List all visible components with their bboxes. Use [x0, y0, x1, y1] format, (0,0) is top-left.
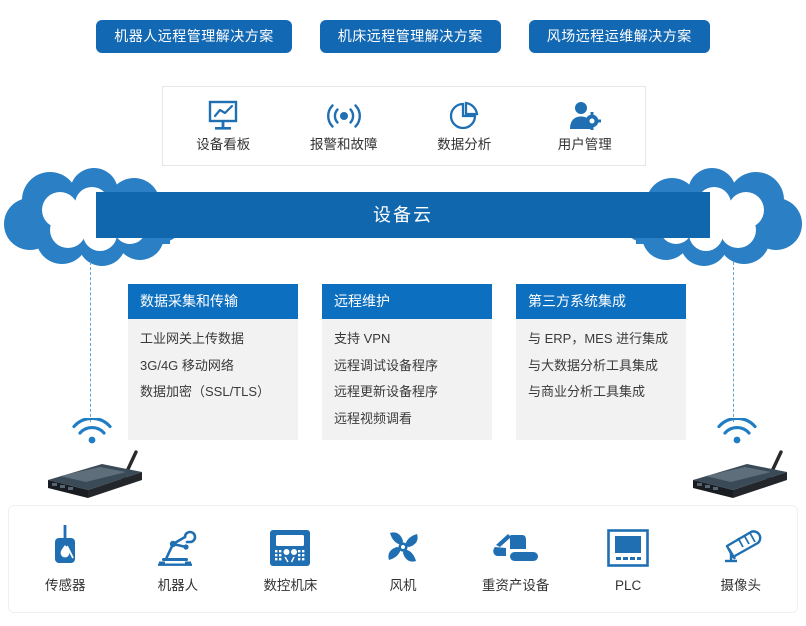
left-gateway	[40, 418, 150, 498]
panel-title: 远程维护	[322, 284, 492, 319]
panel-title: 第三方系统集成	[516, 284, 686, 319]
solution-pill-machine-tool[interactable]: 机床远程管理解决方案	[320, 20, 501, 53]
panel-item-list: 支持 VPN 远程调试设备程序 远程更新设备程序 远程视频调看	[322, 319, 492, 440]
panel-item: 远程更新设备程序	[334, 384, 480, 400]
solution-pill-row: 机器人远程管理解决方案 机床远程管理解决方案 风场远程运维解决方案	[0, 20, 806, 53]
app-item-label: 报警和故障	[310, 138, 378, 152]
app-item-label: 用户管理	[558, 138, 612, 152]
cloud-bar: 设备云	[96, 192, 710, 238]
sensor-icon	[48, 525, 82, 567]
robot-arm-icon	[156, 525, 200, 567]
panel-item: 工业网关上传数据	[140, 331, 286, 347]
device-item-label: 机器人	[158, 579, 199, 593]
device-type-strip: 传感器 机器人	[8, 505, 798, 613]
panel-item: 与商业分析工具集成	[528, 384, 674, 400]
panel-item: 支持 VPN	[334, 331, 480, 347]
panel-title: 数据采集和传输	[128, 284, 298, 319]
device-cloud-band: 设备云	[0, 168, 806, 268]
industrial-router-icon	[40, 448, 150, 498]
device-item-plc[interactable]: PLC	[572, 525, 685, 593]
industrial-router-icon	[685, 448, 795, 498]
panel-item: 数据加密（SSL/TLS）	[140, 384, 286, 400]
capability-panel-group: 数据采集和传输 工业网关上传数据 3G/4G 移动网络 数据加密（SSL/TLS…	[128, 284, 688, 440]
device-item-cnc[interactable]: 数控机床	[234, 525, 347, 593]
device-item-fan[interactable]: 风机	[347, 525, 460, 593]
pie-chart-icon	[448, 100, 480, 132]
application-card: 设备看板 报警和故障 数据分析	[162, 86, 646, 166]
device-item-sensor[interactable]: 传感器	[9, 525, 122, 593]
panel-third-party-integration: 第三方系统集成 与 ERP，MES 进行集成 与大数据分析工具集成 与商业分析工…	[516, 284, 686, 440]
solution-pill-wind-farm[interactable]: 风场远程运维解决方案	[529, 20, 710, 53]
right-gateway	[685, 418, 795, 498]
cnc-machine-icon	[269, 525, 311, 567]
security-camera-icon	[718, 525, 764, 567]
app-item-dashboard[interactable]: 设备看板	[163, 100, 284, 152]
app-item-user-management[interactable]: 用户管理	[525, 100, 646, 152]
panel-item-list: 工业网关上传数据 3G/4G 移动网络 数据加密（SSL/TLS）	[128, 319, 298, 414]
panel-item: 3G/4G 移动网络	[140, 358, 286, 374]
connector-line-right	[733, 262, 734, 422]
panel-remote-maintenance: 远程维护 支持 VPN 远程调试设备程序 远程更新设备程序 远程视频调看	[322, 284, 492, 440]
dashboard-monitor-icon	[206, 100, 240, 132]
app-item-analytics[interactable]: 数据分析	[404, 100, 525, 152]
excavator-icon	[492, 525, 540, 567]
device-item-label: PLC	[615, 579, 641, 593]
panel-item: 与 ERP，MES 进行集成	[528, 331, 674, 347]
plc-icon	[607, 525, 649, 567]
user-gear-icon	[568, 100, 602, 132]
app-item-label: 设备看板	[196, 138, 250, 152]
device-item-label: 重资产设备	[482, 579, 550, 593]
device-item-label: 传感器	[45, 579, 86, 593]
app-item-label: 数据分析	[437, 138, 491, 152]
device-item-label: 风机	[390, 579, 417, 593]
solution-pill-robot[interactable]: 机器人远程管理解决方案	[96, 20, 292, 53]
device-item-camera[interactable]: 摄像头	[684, 525, 797, 593]
device-item-heavy-asset[interactable]: 重资产设备	[459, 525, 572, 593]
panel-item: 远程调试设备程序	[334, 358, 480, 374]
device-item-robot[interactable]: 机器人	[122, 525, 235, 593]
device-item-label: 数控机床	[263, 579, 317, 593]
app-item-alarm[interactable]: 报警和故障	[284, 100, 405, 152]
cloud-label: 设备云	[373, 206, 433, 224]
panel-item: 与大数据分析工具集成	[528, 358, 674, 374]
panel-data-acquisition: 数据采集和传输 工业网关上传数据 3G/4G 移动网络 数据加密（SSL/TLS…	[128, 284, 298, 440]
wifi-signal-icon	[715, 418, 759, 444]
panel-item-list: 与 ERP，MES 进行集成 与大数据分析工具集成 与商业分析工具集成	[516, 319, 686, 414]
alarm-signal-icon	[325, 100, 363, 132]
connector-line-left	[90, 262, 91, 422]
wifi-signal-icon	[70, 418, 114, 444]
panel-item: 远程视频调看	[334, 411, 480, 427]
device-item-label: 摄像头	[721, 579, 762, 593]
fan-blower-icon	[383, 525, 423, 567]
